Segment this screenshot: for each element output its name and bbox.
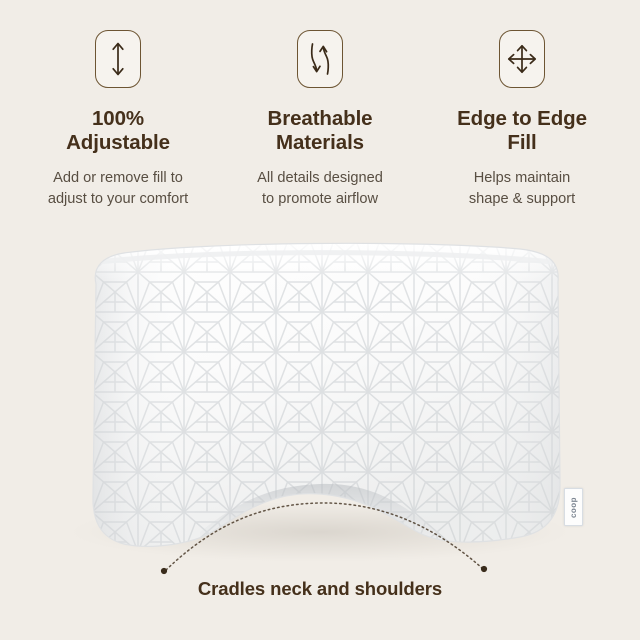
brand-tag: coop [564,488,583,526]
feature-description: All details designed to promote airflow [257,168,383,209]
arc-endpoint-right [481,566,487,572]
infographic-page: 100% Adjustable Add or remove fill to ad… [0,0,640,640]
feature-title: 100% Adjustable [66,107,170,155]
feature-adjustable: 100% Adjustable Add or remove fill to ad… [18,30,218,209]
feature-title: Edge to Edge Fill [457,107,587,155]
airflow-curved-arrows-icon [297,30,343,88]
product-image: coop [0,232,640,582]
feature-description: Add or remove fill to adjust to your com… [48,168,188,209]
feature-row: 100% Adjustable Add or remove fill to ad… [0,0,640,232]
feature-description: Helps maintain shape & support [469,168,575,209]
pillow-illustration [0,232,640,582]
feature-title: Breathable Materials [268,107,373,155]
feature-edge-to-edge-fill: Edge to Edge Fill Helps maintain shape &… [422,30,622,209]
vertical-double-arrow-icon [95,30,141,88]
four-way-arrow-icon [499,30,545,88]
arc-endpoint-left [161,568,167,574]
feature-breathable: Breathable Materials All details designe… [220,30,420,209]
caption-cradles-neck: Cradles neck and shoulders [0,578,640,600]
brand-tag-label: coop [569,496,578,517]
